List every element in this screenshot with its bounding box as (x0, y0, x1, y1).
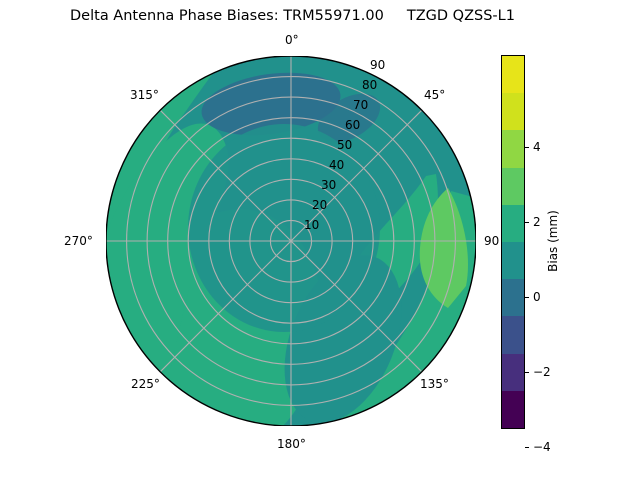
polar-plot-svg (106, 56, 476, 426)
colorbar-band-6 (502, 168, 524, 205)
r-tick-label-90: 90 (370, 58, 385, 72)
colorbar-ticklabel-0: 0 (533, 290, 541, 304)
colorbar-tick-neg4 (525, 447, 529, 448)
colorbar-tick-4 (525, 147, 529, 148)
colorbar-axis-label: Bias (mm) (546, 210, 560, 272)
theta-tick-label-90: 90 (484, 234, 499, 248)
theta-tick-label-135: 135° (420, 377, 449, 391)
colorbar-band-2 (502, 316, 524, 353)
colorbar-band-9 (502, 56, 524, 93)
r-tick-label-30: 30 (321, 178, 336, 192)
colorbar-band-1 (502, 354, 524, 391)
colorbar-gradient (501, 55, 525, 429)
colorbar-ticklabel-neg2: −2 (533, 365, 551, 379)
colorbar-ticklabel-2: 2 (533, 215, 541, 229)
colorbar-band-4 (502, 242, 524, 279)
angular-gridlines (106, 56, 476, 426)
colorbar-band-5 (502, 205, 524, 242)
theta-tick-label-45: 45° (424, 88, 445, 102)
figure-canvas: Delta Antenna Phase Biases: TRM55971.00 … (0, 0, 640, 480)
r-tick-label-60: 60 (345, 118, 360, 132)
r-tick-label-10: 10 (304, 218, 319, 232)
polar-plot: 10 20 30 40 50 60 70 80 90 (106, 56, 476, 426)
colorbar-tick-neg2 (525, 372, 529, 373)
r-tick-label-80: 80 (362, 78, 377, 92)
colorbar-band-3 (502, 279, 524, 316)
page-title: Delta Antenna Phase Biases: TRM55971.00 … (0, 8, 585, 24)
colorbar-band-0 (502, 391, 524, 428)
colorbar: 4 2 0 −2 −4 (501, 55, 525, 429)
theta-tick-label-0: 0° (285, 33, 299, 47)
r-tick-label-70: 70 (353, 98, 368, 112)
theta-tick-label-270: 270° (64, 234, 93, 248)
colorbar-ticklabel-4: 4 (533, 140, 541, 154)
r-tick-label-20: 20 (312, 198, 327, 212)
r-tick-label-40: 40 (329, 158, 344, 172)
colorbar-tick-0 (525, 297, 529, 298)
r-tick-label-50: 50 (337, 138, 352, 152)
theta-tick-label-315: 315° (130, 88, 159, 102)
colorbar-ticklabel-neg4: −4 (533, 440, 551, 454)
colorbar-tick-2 (525, 222, 529, 223)
colorbar-band-7 (502, 130, 524, 167)
colorbar-band-8 (502, 93, 524, 130)
theta-tick-label-180: 180° (277, 437, 306, 451)
theta-tick-label-225: 225° (131, 377, 160, 391)
